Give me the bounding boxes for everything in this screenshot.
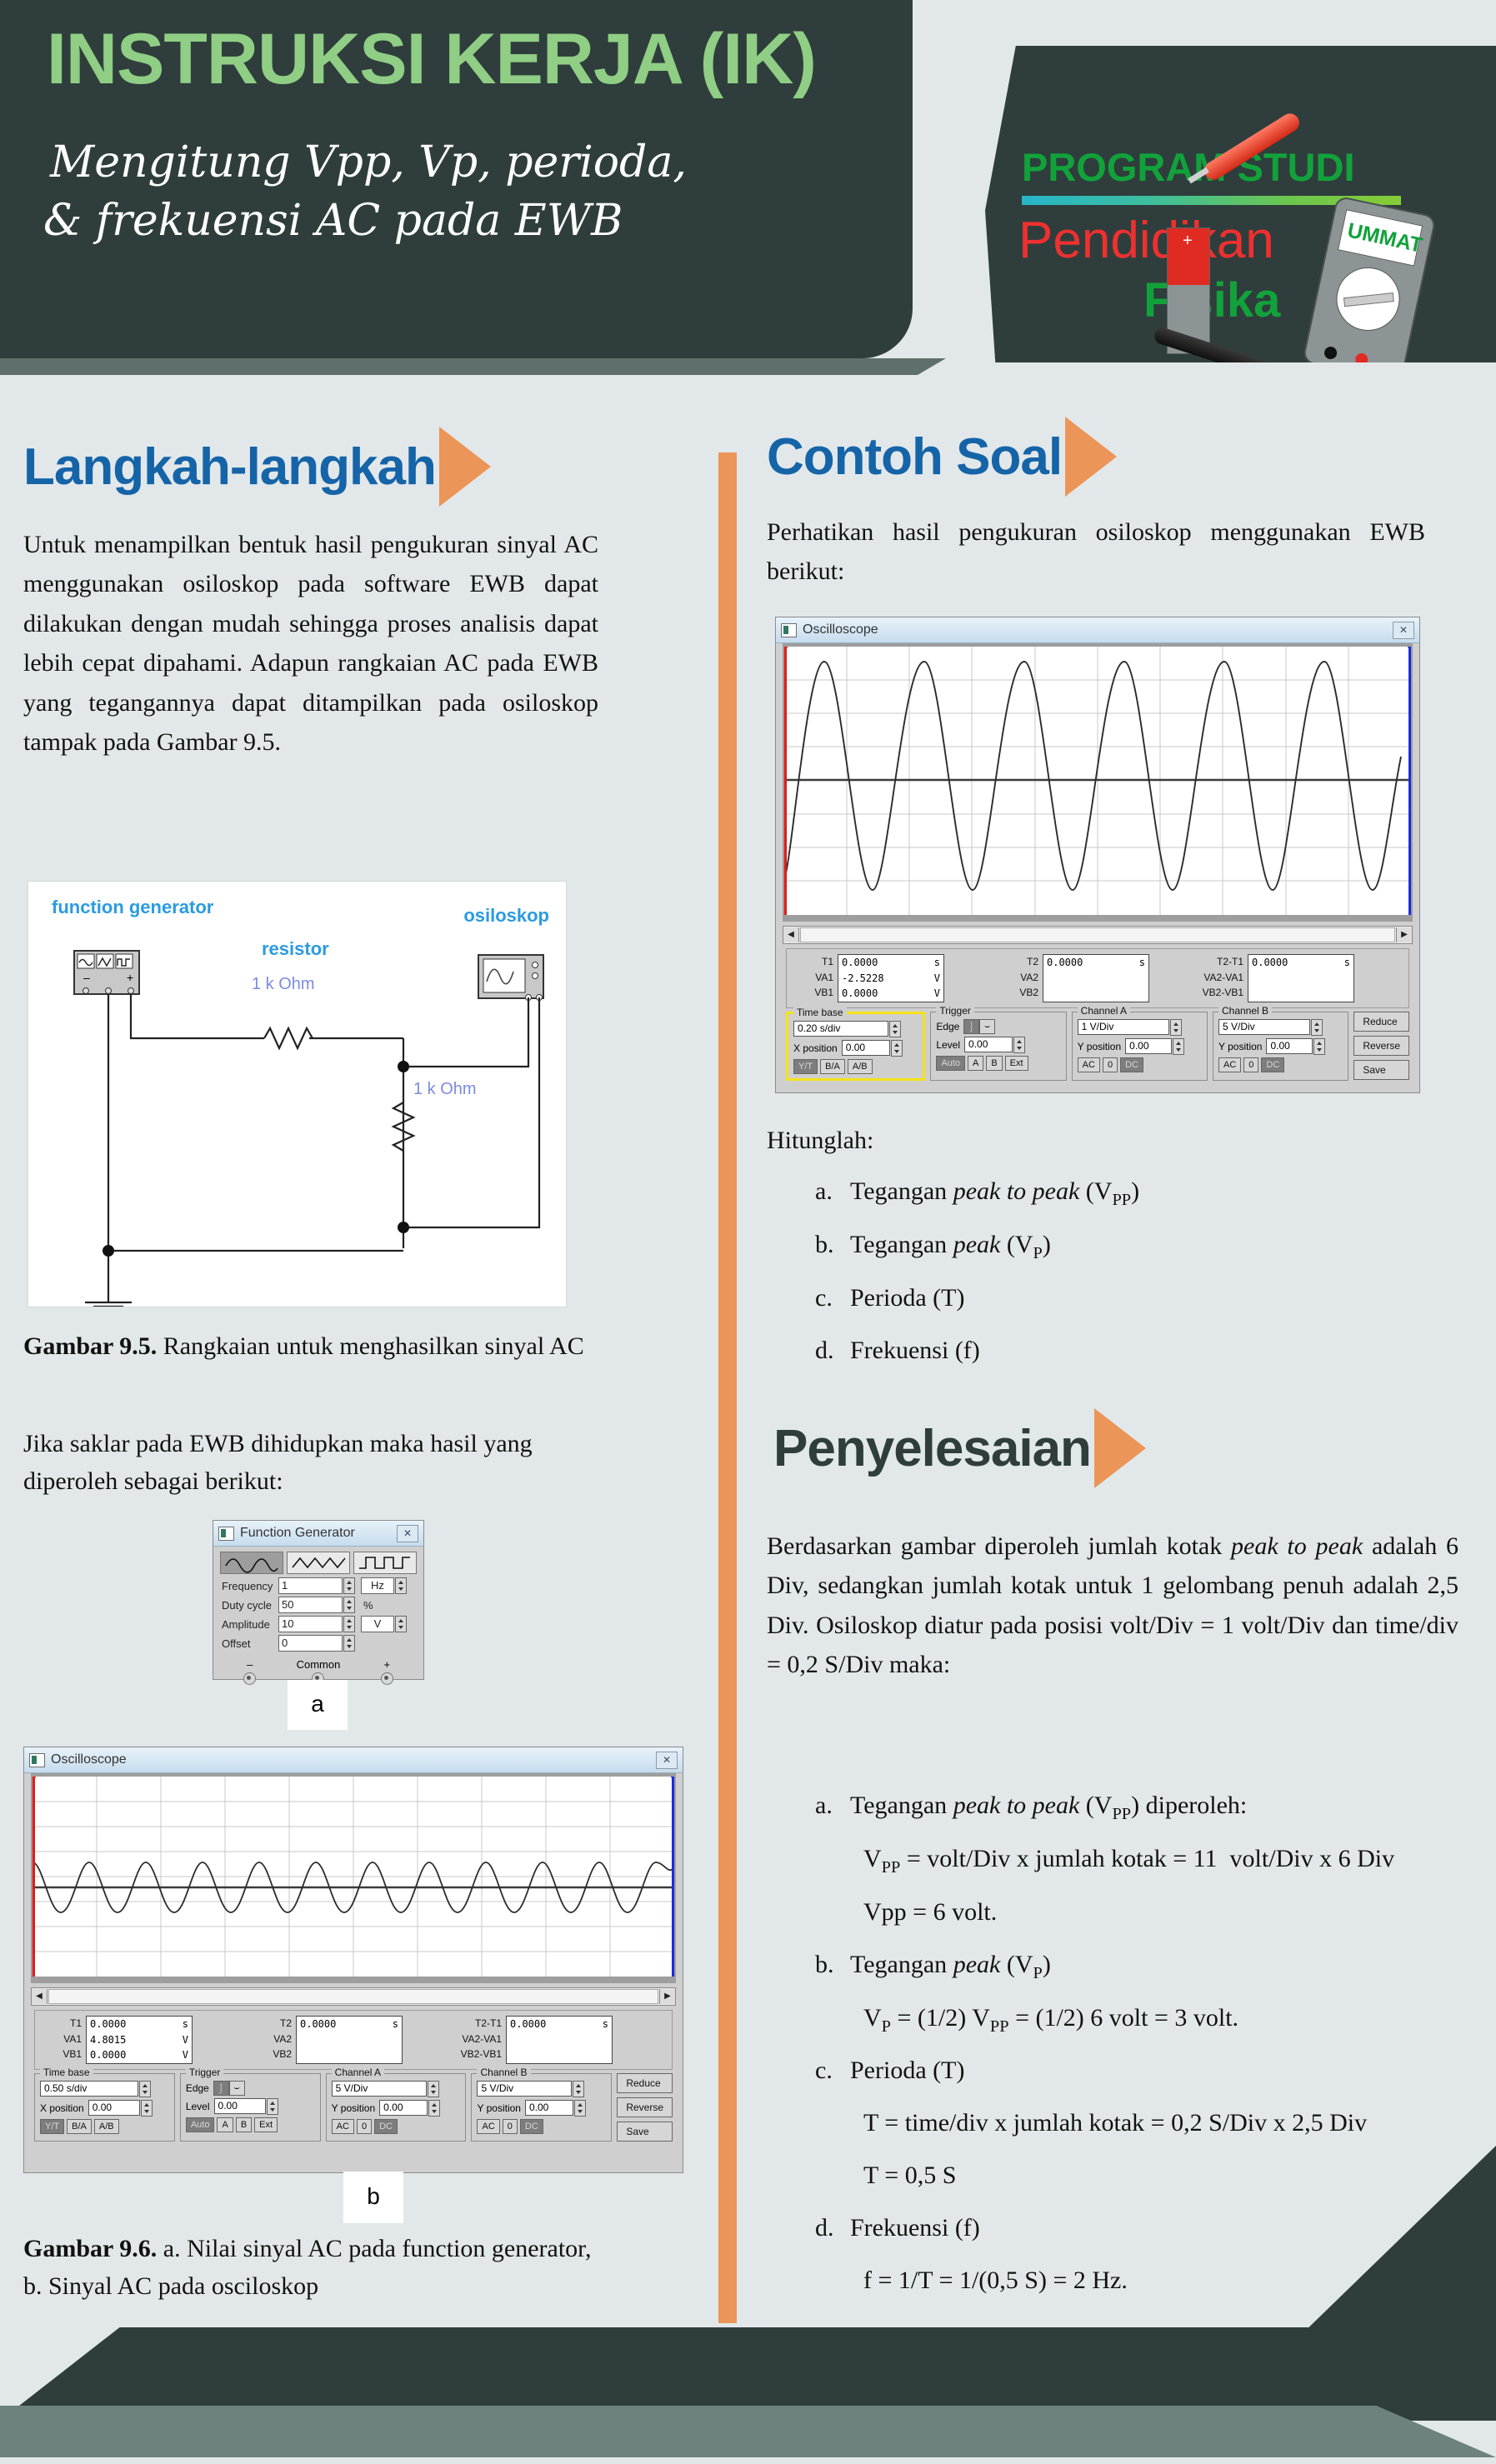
- readout-label-vb2: VB2: [248, 2047, 292, 2062]
- x-position-stepper[interactable]: [141, 2100, 153, 2117]
- after-figure-text: Jika saklar pada EWB dihidupkan maka has…: [23, 1425, 598, 1500]
- trigger-source-a[interactable]: A: [968, 1056, 983, 1071]
- osc-bottom-title: Oscilloscope: [51, 1752, 656, 1767]
- channel-b-ypos-stepper[interactable]: [574, 2100, 586, 2117]
- osc-top-titlebar: Oscilloscope ✕: [776, 617, 1419, 643]
- list-item: d. Frekuensi (f): [815, 2202, 1475, 2254]
- osc-top-readouts: T1 VA1 VB1 0.0000s -2.5228V 0.0000V T2 V…: [786, 948, 1409, 1008]
- readout-unit-vb1: V: [928, 986, 940, 1002]
- readout-label-t1: T1: [790, 954, 833, 970]
- question-list: a. Tegangan peak to peak (VPP) b. Tegang…: [815, 1165, 1458, 1377]
- duty-cycle-unit: %: [363, 1599, 373, 1612]
- field-amplitude[interactable]: Amplitude 10 V: [222, 1616, 415, 1632]
- trigger-edge-rising-icon[interactable]: ⌡: [963, 1019, 979, 1034]
- caption-95-bold: Gambar 9.5.: [23, 1332, 157, 1360]
- channel-a-coupling-gnd[interactable]: 0: [357, 2119, 372, 2134]
- list-item: b. Tegangan peak (VP): [815, 1938, 1475, 1992]
- readout-value-t2: 0.0000: [300, 2017, 336, 2032]
- frequency-stepper[interactable]: [343, 1577, 355, 1594]
- subtitle-line-1: Mengitung Vpp, Vp, perioda,: [35, 133, 902, 192]
- time-base-stepper[interactable]: [889, 1021, 901, 1037]
- field-duty-cycle[interactable]: Duty cycle 50 %: [222, 1597, 415, 1613]
- terminal-positive-jack-icon[interactable]: [381, 1672, 393, 1685]
- time-base-mode-ab[interactable]: A/B: [94, 2119, 119, 2134]
- contoh-soal-text: Perhatikan hasil pengukuran osiloskop me…: [767, 512, 1425, 592]
- trigger-source-ext[interactable]: Ext: [1005, 1056, 1028, 1071]
- frequency-unit[interactable]: Hz: [361, 1577, 394, 1594]
- column-divider: [718, 452, 737, 2323]
- step-line-c2: T = 0,5 S: [863, 2149, 956, 2202]
- readout-value-vb1: 0.0000: [90, 2047, 126, 2063]
- readout-group-t2: T2 VA2 VB2 0.0000s: [248, 2016, 458, 2064]
- header-banner: INSTRUKSI KERJA (IK) Mengitung Vpp, Vp, …: [0, 0, 913, 358]
- function-generator-window[interactable]: Function Generator ✕ Frequency 1 Hz: [213, 1520, 424, 1680]
- heading-langkah-langkah: Langkah-langkah: [23, 427, 491, 507]
- logo-major-text: Fisika: [1143, 272, 1280, 328]
- readout-label-va2: VA2: [995, 970, 1038, 986]
- step-head-d: Frekuensi (f): [850, 2202, 980, 2254]
- channel-a-ypos-value[interactable]: 0.00: [379, 2100, 428, 2116]
- reduce-button[interactable]: Reduce: [617, 2073, 673, 2093]
- channel-a-scale-stepper[interactable]: [1170, 1019, 1182, 1036]
- amplitude-unit[interactable]: V: [361, 1616, 394, 1632]
- trigger-edge-rising-icon[interactable]: ⌡: [213, 2081, 229, 2096]
- channel-a-coupling-dc[interactable]: DC: [1120, 1057, 1143, 1072]
- list-item: d. Frekuensi (f): [815, 1324, 1458, 1377]
- question-text-a: Tegangan peak to peak (VPP): [850, 1165, 1139, 1218]
- osc-top-panels: Time base 0.20 s/div X position 0.00 Y/T…: [786, 1012, 1409, 1081]
- penyelesaian-paragraph: Berdasarkan gambar diperoleh jumlah kota…: [767, 1527, 1458, 1685]
- readout-label-vb2: VB2: [995, 985, 1038, 1001]
- channel-a-ypos-label: Y position: [332, 2102, 375, 2114]
- duty-cycle-input[interactable]: 50: [278, 1597, 343, 1613]
- step-line-a1: VPP = volt/Div x jumlah kotak = 11 volt/…: [863, 1832, 1394, 1886]
- osc-bottom-side-buttons: Reduce Reverse Save: [617, 2073, 673, 2142]
- sublabel-b: b: [343, 2172, 403, 2223]
- triangle-marker-icon: [1065, 417, 1117, 497]
- trigger-level-label: Level: [186, 2101, 210, 2112]
- left-intro-block: Untuk menampilkan bentuk hasil pengukura…: [23, 525, 598, 762]
- question-text-b: Tegangan peak (VP): [850, 1218, 1051, 1272]
- panel-time-base: Time base 0.20 s/div X position 0.00 Y/T…: [786, 1012, 925, 1081]
- x-position-value[interactable]: 0.00: [88, 2100, 140, 2116]
- amplitude-unit-stepper[interactable]: [395, 1616, 407, 1632]
- time-base-mode-yt[interactable]: Y/T: [40, 2119, 64, 2134]
- window-app-icon: [218, 1527, 234, 1541]
- osc-top-side-buttons: Reduce Reverse Save: [1353, 1012, 1409, 1081]
- scroll-right-icon[interactable]: ▶: [659, 1989, 675, 2004]
- duty-cycle-label: Duty cycle: [222, 1599, 278, 1612]
- panel-channel-a: Channel A 5 V/Div Y position 0.00 AC 0 D…: [326, 2073, 467, 2142]
- readout-value-t2: 0.0000: [1047, 955, 1083, 971]
- terminal-negative-label: –: [243, 1658, 256, 1671]
- field-offset[interactable]: Offset 0: [222, 1635, 415, 1652]
- cursor-t1-handle-icon[interactable]: [784, 647, 793, 648]
- program-logo-panel: PROGRAM STUDI Pendidikan Fisika + UMMAT: [985, 46, 1496, 362]
- readout-unit-t1: s: [928, 955, 940, 971]
- oscilloscope-window-top[interactable]: Oscilloscope ✕: [775, 617, 1420, 1093]
- subtitle-line-2: & frekuensi AC pada EWB: [35, 192, 902, 250]
- question-marker-a: a.: [815, 1165, 850, 1218]
- osc-bottom-titlebar: Oscilloscope ✕: [24, 1747, 683, 1773]
- readout-unit-vb1: V: [177, 2047, 188, 2063]
- channel-b-scale-stepper[interactable]: [573, 2081, 584, 2097]
- channel-b-ypos-stepper[interactable]: [1313, 1038, 1325, 1055]
- channel-b-ypos-label: Y position: [477, 2102, 520, 2114]
- channel-b-scale[interactable]: 5 V/Div: [477, 2081, 572, 2097]
- caption-95-rest: Rangkaian untuk menghasilkan sinyal AC: [157, 1332, 583, 1360]
- panel-channel-a: Channel A 1 V/Div Y position 0.00 AC 0 D…: [1072, 1012, 1208, 1081]
- list-item: T = 0,5 S: [815, 2149, 1475, 2202]
- readout-label-vb2vb1: VB2-VB1: [1200, 985, 1243, 1001]
- terminal-negative-jack-icon[interactable]: [243, 1672, 256, 1685]
- readout-value-t2t1: 0.0000: [510, 2017, 546, 2032]
- readout-label-t2: T2: [248, 2016, 292, 2032]
- step-line-c1: T = time/div x jumlah kotak = 0,2 S/Div …: [863, 2097, 1367, 2149]
- osc-top-cursor-t1[interactable]: [784, 647, 787, 915]
- step-line-d1: f = 1/T = 1/(0,5 S) = 2 Hz.: [863, 2254, 1128, 2307]
- reverse-button[interactable]: Reverse: [1353, 1036, 1409, 1056]
- osc-bottom-readouts: T1 VA1 VB1 0.0000s 4.8015V 0.0000V T2 VA…: [34, 2010, 673, 2070]
- step-marker-d: d.: [815, 2202, 850, 2254]
- cursor-t1-handle-icon[interactable]: [33, 1777, 42, 1778]
- trigger-level-stepper[interactable]: [1013, 1037, 1025, 1053]
- list-item: c. Perioda (T): [815, 2044, 1475, 2097]
- trigger-level-value[interactable]: 0.00: [214, 2098, 266, 2114]
- oscilloscope-window-bottom[interactable]: Oscilloscope ✕: [23, 1747, 683, 2173]
- heading-langkah-text: Langkah-langkah: [23, 437, 436, 497]
- reverse-button[interactable]: Reverse: [617, 2097, 673, 2117]
- logo-department-text: Pendidikan: [1018, 211, 1274, 270]
- offset-stepper[interactable]: [343, 1635, 355, 1652]
- readout-value-va1: 4.8015: [90, 2032, 126, 2048]
- triangle-marker-icon: [439, 427, 491, 507]
- x-position-stepper[interactable]: [891, 1040, 903, 1057]
- readout-group-t1: T1 VA1 VB1 0.0000s -2.5228V 0.0000V: [790, 954, 995, 1002]
- step-marker-b: b.: [815, 1938, 850, 1992]
- readout-label-t1: T1: [38, 2016, 82, 2032]
- channel-b-ypos-value[interactable]: 0.00: [1266, 1038, 1313, 1054]
- caption-96-bold: Gambar 9.6.: [23, 2235, 157, 2262]
- black-probe-icon: [1153, 326, 1284, 362]
- function-generator-titlebar: Function Generator ✕: [213, 1521, 423, 1547]
- osc-top-cursor-t2[interactable]: [1408, 647, 1411, 915]
- readout-unit-t2t1: s: [597, 2017, 608, 2032]
- heading-contoh-text: Contoh Soal: [767, 427, 1062, 487]
- function-generator-fields: Frequency 1 Hz Duty cycle 50 % Amplitude…: [213, 1576, 423, 1652]
- trigger-source-ext[interactable]: Ext: [254, 2117, 278, 2132]
- x-position-label: X position: [793, 1042, 838, 1054]
- terminal-negative[interactable]: –: [243, 1658, 256, 1685]
- x-position-value[interactable]: 0.00: [842, 1040, 890, 1056]
- step-head-a: Tegangan peak to peak (VPP) diperoleh:: [850, 1779, 1247, 1832]
- panel-channel-b: Channel B 5 V/Div Y position 0.00 AC 0 D…: [471, 2073, 612, 2142]
- channel-b-coupling-ac[interactable]: AC: [477, 2119, 499, 2134]
- readout-label-vb2vb1: VB2-VB1: [458, 2047, 502, 2062]
- list-item: c. Perioda (T): [815, 1272, 1458, 1324]
- amplitude-input[interactable]: 10: [278, 1616, 343, 1632]
- function-generator-title: Function Generator: [240, 1526, 397, 1541]
- channel-b-coupling-gnd[interactable]: 0: [503, 2119, 518, 2134]
- readout-unit-t2: s: [387, 2017, 398, 2032]
- field-frequency[interactable]: Frequency 1 Hz: [222, 1577, 415, 1594]
- time-base-mode-ba[interactable]: B/A: [820, 1059, 845, 1074]
- channel-a-coupling-ac[interactable]: AC: [1078, 1057, 1100, 1072]
- window-app-icon: [781, 623, 797, 637]
- panel-channel-b: Channel B 5 V/Div Y position 0.00 AC 0 D…: [1213, 1012, 1348, 1081]
- osc-bottom-panels: Time base 0.50 s/div X position 0.00 Y/T…: [34, 2073, 673, 2142]
- trigger-source-b[interactable]: B: [986, 1056, 1002, 1071]
- footer-light-band: [0, 2406, 1496, 2457]
- triangle-marker-icon: [1094, 1408, 1146, 1488]
- channel-b-coupling-dc[interactable]: DC: [1261, 1057, 1284, 1072]
- time-base-stepper[interactable]: [139, 2081, 151, 2097]
- readout-group-delta: T2-T1 VA2-VA1 VB2-VB1 0.0000s: [458, 2016, 668, 2064]
- readout-label-va2: VA2: [248, 2032, 292, 2047]
- circuit-figure: function generator osiloskop resistor 1 …: [28, 881, 567, 1307]
- trigger-edge-label: Edge: [936, 1021, 959, 1032]
- step-head-b: Tegangan peak (VP): [850, 1938, 1051, 1992]
- trigger-level-stepper[interactable]: [267, 2098, 278, 2115]
- readout-group-t2: T2 VA2 VB2 0.0000s: [995, 954, 1200, 1002]
- readout-unit-va1: V: [177, 2032, 188, 2048]
- readout-label-va2va1: VA2-VA1: [458, 2032, 502, 2047]
- channel-a-legend: Channel A: [1078, 1005, 1130, 1017]
- scroll-left-icon[interactable]: ◀: [32, 1989, 48, 2004]
- question-marker-b: b.: [815, 1218, 850, 1272]
- channel-b-coupling-dc[interactable]: DC: [520, 2119, 543, 2134]
- logo-program-text: PROGRAM STUDI: [1022, 144, 1355, 190]
- readout-label-va2va1: VA2-VA1: [1200, 970, 1243, 986]
- caption-gambar-96: Gambar 9.6. a. Nilai sinyal AC pada func…: [23, 2230, 607, 2305]
- step-line-a2: Vpp = 6 volt.: [863, 1886, 997, 1938]
- channel-b-coupling-gnd[interactable]: 0: [1243, 1057, 1258, 1072]
- scroll-right-icon[interactable]: ▶: [1396, 927, 1412, 942]
- readout-value-t1: 0.0000: [842, 955, 878, 971]
- readout-value-vb1: 0.0000: [842, 986, 878, 1002]
- time-base-value[interactable]: 0.20 s/div: [793, 1021, 888, 1037]
- channel-a-scale-stepper[interactable]: [428, 2081, 439, 2097]
- readout-unit-t2t1: s: [1338, 955, 1350, 971]
- time-base-legend: Time base: [793, 1007, 847, 1018]
- channel-b-ypos-value[interactable]: 0.00: [525, 2100, 573, 2116]
- panel-trigger: Trigger Edge ⌡ ⌣ Level 0.00 Auto A B Ext: [930, 1012, 1066, 1081]
- list-item: VP = (1/2) VPP = (1/2) 6 volt = 3 volt.: [815, 1992, 1475, 2045]
- terminal-positive-label: +: [381, 1658, 393, 1671]
- readout-value-t1: 0.0000: [90, 2017, 126, 2032]
- solution-list: a. Tegangan peak to peak (VPP) diperoleh…: [815, 1779, 1475, 2307]
- waveform-selector: [213, 1547, 423, 1576]
- channel-a-scale[interactable]: 1 V/Div: [1078, 1019, 1169, 1035]
- heading-contoh-soal: Contoh Soal: [767, 417, 1117, 497]
- trigger-source-b[interactable]: B: [236, 2117, 252, 2132]
- channel-a-ypos-value[interactable]: 0.00: [1125, 1038, 1172, 1054]
- trigger-legend: Trigger: [186, 2067, 224, 2078]
- list-item: T = time/div x jumlah kotak = 0,2 S/Div …: [815, 2097, 1475, 2149]
- channel-a-ypos-label: Y position: [1078, 1041, 1121, 1052]
- step-head-c: Perioda (T): [850, 2044, 964, 2097]
- reduce-button[interactable]: Reduce: [1353, 1012, 1409, 1032]
- readout-group-delta: T2-T1 VA2-VA1 VB2-VB1 0.0000s: [1200, 954, 1405, 1002]
- circuit-schematic-svg: – +: [28, 882, 566, 1307]
- time-base-value[interactable]: 0.50 s/div: [40, 2081, 138, 2097]
- readout-label-t2t1: T2-T1: [1200, 954, 1243, 970]
- readout-unit-t2: s: [1133, 955, 1145, 971]
- readout-label-t2t1: T2-T1: [458, 2016, 502, 2032]
- readout-unit-va1: V: [928, 971, 940, 987]
- readout-label-vb1: VB1: [790, 985, 833, 1001]
- list-item: b. Tegangan peak (VP): [815, 1218, 1458, 1272]
- time-base-mode-yt[interactable]: Y/T: [793, 1059, 818, 1074]
- frequency-unit-stepper[interactable]: [395, 1577, 407, 1594]
- channel-a-legend: Channel A: [332, 2067, 384, 2078]
- left-intro-text: Untuk menampilkan bentuk hasil pengukura…: [23, 525, 598, 762]
- svg-text:–: –: [83, 971, 90, 984]
- scroll-thumb[interactable]: [800, 927, 1395, 942]
- time-base-mode-ab[interactable]: A/B: [848, 1059, 873, 1074]
- x-position-label: X position: [40, 2102, 84, 2114]
- solution-steps: a. Tegangan peak to peak (VPP) diperoleh…: [767, 1779, 1475, 2307]
- offset-label: Offset: [222, 1637, 278, 1650]
- amplitude-label: Amplitude: [222, 1618, 278, 1631]
- readout-group-t1: T1 VA1 VB1 0.0000s 4.8015V 0.0000V: [38, 2016, 248, 2064]
- readout-value-t2t1: 0.0000: [1252, 955, 1288, 971]
- heading-penyelesaian-text: Penyelesaian: [773, 1419, 1091, 1478]
- osc-bottom-cursor-t2[interactable]: [672, 1777, 674, 1977]
- hitunglah-label: Hitunglah:: [767, 1121, 1458, 1160]
- save-button[interactable]: Save: [1353, 1060, 1409, 1080]
- window-app-icon: [29, 1753, 45, 1767]
- scroll-left-icon[interactable]: ◀: [783, 927, 799, 942]
- osc-bottom-scrollbar[interactable]: ◀ ▶: [31, 1987, 676, 2006]
- channel-b-legend: Channel B: [1218, 1005, 1272, 1017]
- hitunglah-block: Hitunglah: a. Tegangan peak to peak (VPP…: [767, 1121, 1458, 1377]
- channel-b-scale[interactable]: 5 V/Div: [1218, 1019, 1310, 1035]
- channel-b-scale-stepper[interactable]: [1311, 1019, 1323, 1036]
- page-subtitle: Mengitung Vpp, Vp, perioda, & frekuensi …: [35, 133, 902, 250]
- close-icon[interactable]: ✕: [1393, 622, 1414, 639]
- multimeter-icon: UMMAT: [1302, 196, 1437, 362]
- list-item: VPP = volt/Div x jumlah kotak = 11 volt/…: [815, 1832, 1475, 1886]
- readout-label-t2: T2: [995, 954, 1038, 970]
- osc-bottom-cursor-t1[interactable]: [33, 1777, 35, 1977]
- channel-a-coupling-ac[interactable]: AC: [332, 2119, 354, 2134]
- duty-cycle-stepper[interactable]: [343, 1597, 355, 1613]
- waveform-triangle-button[interactable]: [287, 1552, 350, 1574]
- channel-a-ypos-stepper[interactable]: [1173, 1038, 1184, 1055]
- list-item: a. Tegangan peak to peak (VPP): [815, 1165, 1458, 1218]
- sublabel-a: a: [288, 1680, 348, 1730]
- trigger-level-value[interactable]: 0.00: [964, 1037, 1013, 1052]
- readout-unit-t1: s: [177, 2017, 188, 2032]
- list-item: Vpp = 6 volt.: [815, 1886, 1475, 1938]
- channel-a-coupling-gnd[interactable]: 0: [1103, 1057, 1118, 1072]
- trigger-level-label: Level: [936, 1039, 960, 1051]
- heading-penyelesaian: Penyelesaian: [773, 1408, 1146, 1488]
- terminal-positive[interactable]: +: [381, 1658, 393, 1685]
- header-shadow-strip: [0, 358, 946, 375]
- cursor-t2-handle-icon[interactable]: [1402, 647, 1411, 648]
- list-item: a. Tegangan peak to peak (VPP) diperoleh…: [815, 1779, 1475, 1832]
- trigger-edge-label: Edge: [186, 2082, 209, 2094]
- cursor-t2-handle-icon[interactable]: [665, 1777, 674, 1778]
- close-icon[interactable]: ✕: [656, 1752, 678, 1769]
- question-marker-c: c.: [815, 1272, 850, 1324]
- close-icon[interactable]: ✕: [397, 1525, 418, 1542]
- trigger-legend: Trigger: [936, 1005, 974, 1017]
- osc-top-scrollbar[interactable]: ◀ ▶: [783, 926, 1413, 944]
- osc-bottom-screen: [31, 1773, 676, 1983]
- readout-label-vb1: VB1: [38, 2047, 82, 2062]
- panel-time-base: Time base 0.50 s/div X position 0.00 Y/T…: [34, 2073, 175, 2142]
- channel-a-coupling-dc[interactable]: DC: [374, 2119, 398, 2134]
- trigger-source-auto[interactable]: Auto: [936, 1056, 965, 1071]
- channel-a-ypos-stepper[interactable]: [428, 2100, 440, 2117]
- step-marker-a: a.: [815, 1779, 850, 1832]
- offset-input[interactable]: 0: [278, 1635, 343, 1652]
- svg-text:+: +: [127, 971, 133, 984]
- frequency-input[interactable]: 1: [278, 1577, 343, 1594]
- save-button[interactable]: Save: [617, 2122, 673, 2142]
- readout-label-va1: VA1: [790, 970, 833, 986]
- osc-top-grid: [784, 647, 1411, 915]
- channel-b-coupling-ac[interactable]: AC: [1218, 1057, 1241, 1072]
- channel-b-ypos-label: Y position: [1218, 1041, 1262, 1052]
- readout-label-va1: VA1: [38, 2032, 82, 2047]
- waveform-sine-button[interactable]: [220, 1552, 283, 1574]
- amplitude-stepper[interactable]: [343, 1616, 355, 1632]
- scroll-thumb[interactable]: [48, 1989, 658, 2004]
- terminal-common-label: Common: [297, 1658, 341, 1671]
- question-text-c: Perioda (T): [850, 1272, 964, 1324]
- question-marker-d: d.: [815, 1324, 850, 1377]
- channel-b-legend: Channel B: [477, 2067, 530, 2078]
- step-marker-c: c.: [815, 2044, 850, 2097]
- waveform-square-button[interactable]: [353, 1552, 417, 1574]
- trigger-source-auto[interactable]: Auto: [186, 2117, 215, 2132]
- question-text-d: Frekuensi (f): [850, 1324, 980, 1377]
- readout-value-va1: -2.5228: [842, 971, 884, 987]
- caption-gambar-95: Gambar 9.5. Rangkaian untuk menghasilkan…: [23, 1327, 598, 1365]
- frequency-label: Frequency: [222, 1580, 278, 1592]
- poster-page: INSTRUKSI KERJA (IK) Mengitung Vpp, Vp, …: [0, 0, 1496, 2464]
- osc-bottom-grid: [33, 1777, 674, 1977]
- page-title: INSTRUKSI KERJA (IK): [47, 18, 897, 101]
- osc-top-title: Oscilloscope: [803, 622, 1393, 637]
- trigger-edge-falling-icon[interactable]: ⌣: [979, 1019, 995, 1034]
- osc-top-screen: [783, 643, 1413, 922]
- channel-a-scale[interactable]: 5 V/Div: [332, 2081, 427, 2097]
- trigger-edge-falling-icon[interactable]: ⌣: [229, 2081, 245, 2096]
- multimeter-brand: UMMAT: [1345, 218, 1424, 257]
- trigger-source-a[interactable]: A: [217, 2117, 233, 2132]
- time-base-legend: Time base: [40, 2067, 93, 2078]
- step-line-b1: VP = (1/2) VPP = (1/2) 6 volt = 3 volt.: [863, 1992, 1238, 2045]
- time-base-mode-ba[interactable]: B/A: [67, 2119, 92, 2134]
- panel-trigger: Trigger Edge ⌡ ⌣ Level 0.00 Auto A B Ext: [180, 2073, 321, 2142]
